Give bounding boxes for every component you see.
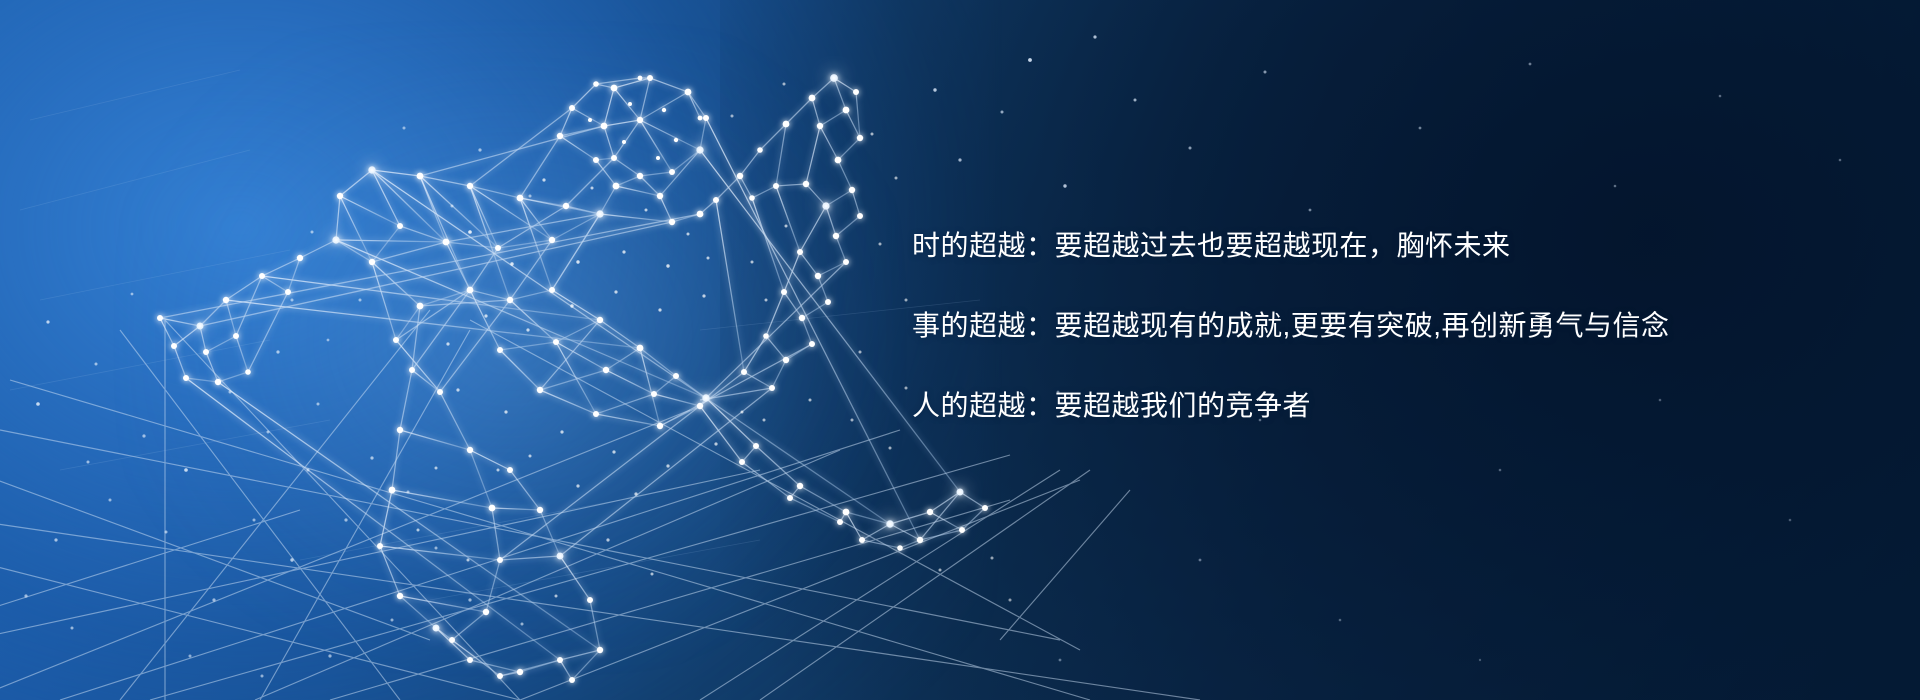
tagline-people: 人的超越：要超越我们的竞争者 [912, 392, 1872, 420]
tagline-time: 时的超越：要超越过去也要超越现在，胸怀未来 [912, 232, 1872, 260]
hero-banner: 时的超越：要超越过去也要超越现在，胸怀未来 事的超越：要超越现有的成就,更要有突… [0, 0, 1920, 700]
tagline-work: 事的超越：要超越现有的成就,更要有突破,再创新勇气与信念 [912, 312, 1872, 340]
tagline-block: 时的超越：要超越过去也要超越现在，胸怀未来 事的超越：要超越现有的成就,更要有突… [912, 232, 1872, 420]
